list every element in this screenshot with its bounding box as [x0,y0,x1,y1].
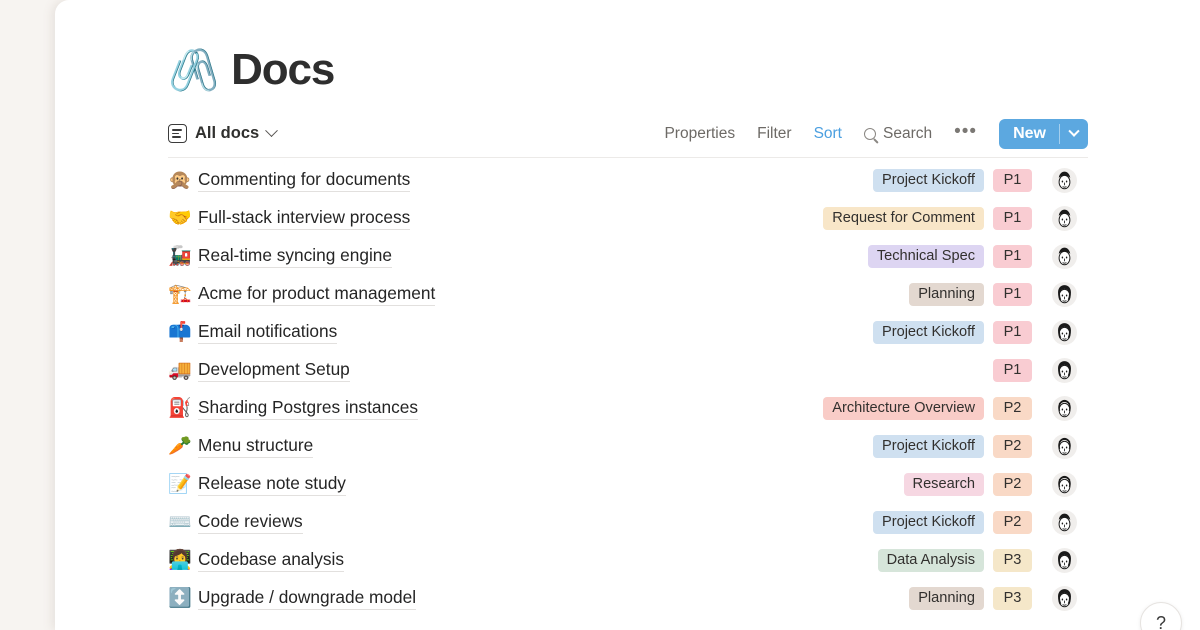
doc-row[interactable]: 🚚Development SetupP1 [168,351,1088,389]
doc-tag-cell: Architecture Overview [779,397,984,420]
doc-owner-cell [1041,168,1088,193]
avatar[interactable] [1052,282,1077,307]
doc-owner-cell [1041,358,1088,383]
doc-owner-cell [1041,510,1088,535]
page-content: 🖇️ Docs All docs Properties Filter Sort … [168,0,1088,617]
avatar[interactable] [1052,434,1077,459]
priority-badge[interactable]: P2 [993,435,1033,458]
avatar[interactable] [1052,168,1077,193]
avatar[interactable] [1052,244,1077,269]
avatar[interactable] [1052,396,1077,421]
doc-row[interactable]: ↕️Upgrade / downgrade modelPlanningP3 [168,579,1088,617]
avatar[interactable] [1052,548,1077,573]
doc-tag-cell: Planning [779,283,984,306]
priority-badge[interactable]: P1 [993,321,1033,344]
new-button[interactable]: New [999,119,1059,149]
doc-row[interactable]: 🏗️Acme for product managementPlanningP1 [168,275,1088,313]
new-button-group: New [999,119,1088,149]
toolbar-actions: Properties Filter Sort Search ••• New [664,119,1088,149]
doc-tag-badge[interactable]: Planning [909,283,984,306]
doc-tag-badge[interactable]: Project Kickoff [873,435,984,458]
priority-badge[interactable]: P1 [993,283,1033,306]
doc-priority-cell: P2 [984,435,1041,458]
help-button[interactable]: ? [1140,602,1182,630]
chevron-down-icon [1068,125,1079,136]
doc-priority-cell: P1 [984,207,1041,230]
doc-tag-badge[interactable]: Project Kickoff [873,321,984,344]
doc-title-link[interactable]: Code reviews [198,511,303,534]
doc-owner-cell [1041,586,1088,611]
doc-owner-cell [1041,548,1088,573]
doc-list: 🙊Commenting for documentsProject Kickoff… [168,161,1088,617]
doc-row[interactable]: ⛽Sharding Postgres instancesArchitecture… [168,389,1088,427]
list-view-icon [168,124,187,143]
page-panel: 🖇️ Docs All docs Properties Filter Sort … [55,0,1200,630]
doc-row[interactable]: 🥕Menu structureProject KickoffP2 [168,427,1088,465]
search-button[interactable]: Search [864,125,932,143]
doc-title-link[interactable]: Sharding Postgres instances [198,397,418,420]
doc-tag-cell: Planning [779,587,984,610]
priority-badge[interactable]: P1 [993,169,1033,192]
doc-priority-cell: P1 [984,359,1041,382]
memo-icon: 📝 [168,475,198,494]
doc-row[interactable]: 📝Release note studyResearchP2 [168,465,1088,503]
priority-badge[interactable]: P1 [993,245,1033,268]
doc-row[interactable]: 📫Email notificationsProject KickoffP1 [168,313,1088,351]
sort-button[interactable]: Sort [814,125,842,143]
avatar[interactable] [1052,586,1077,611]
doc-owner-cell [1041,472,1088,497]
construction-crane-icon: 🏗️ [168,285,198,304]
locomotive-icon: 🚂 [168,247,198,266]
doc-title-link[interactable]: Development Setup [198,359,350,382]
doc-title-link[interactable]: Email notifications [198,321,337,344]
priority-badge[interactable]: P2 [993,473,1033,496]
doc-row[interactable]: 🤝Full-stack interview processRequest for… [168,199,1088,237]
avatar[interactable] [1052,472,1077,497]
doc-priority-cell: P1 [984,283,1041,306]
doc-title-link[interactable]: Full-stack interview process [198,207,410,230]
keyboard-icon: ⌨️ [168,513,198,532]
priority-badge[interactable]: P3 [993,587,1033,610]
chevron-down-icon [265,124,278,137]
doc-priority-cell: P2 [984,473,1041,496]
app-root: 🖇️ Docs All docs Properties Filter Sort … [0,0,1200,630]
technologist-icon: 👩‍💻 [168,551,198,570]
handshake-icon: 🤝 [168,209,198,228]
doc-title-link[interactable]: Upgrade / downgrade model [198,587,416,610]
avatar[interactable] [1052,510,1077,535]
more-options-button[interactable]: ••• [954,127,977,137]
paperclip-icon: 🖇️ [168,50,219,91]
carrot-icon: 🥕 [168,437,198,456]
doc-row[interactable]: ⌨️Code reviewsProject KickoffP2 [168,503,1088,541]
doc-title-link[interactable]: Real-time syncing engine [198,245,392,268]
doc-tag-cell: Project Kickoff [779,169,984,192]
priority-badge[interactable]: P3 [993,549,1033,572]
doc-row[interactable]: 👩‍💻Codebase analysisData AnalysisP3 [168,541,1088,579]
doc-owner-cell [1041,434,1088,459]
doc-owner-cell [1041,206,1088,231]
avatar[interactable] [1052,320,1077,345]
doc-owner-cell [1041,396,1088,421]
toolbar: All docs Properties Filter Sort Search •… [168,110,1088,158]
doc-title-link[interactable]: Release note study [198,473,346,496]
doc-tag-cell: Project Kickoff [779,511,984,534]
properties-button[interactable]: Properties [664,125,735,143]
doc-priority-cell: P3 [984,587,1041,610]
doc-tag-cell: Project Kickoff [779,321,984,344]
doc-title-link[interactable]: Codebase analysis [198,549,344,572]
doc-priority-cell: P1 [984,321,1041,344]
doc-tag-cell: Data Analysis [779,549,984,572]
doc-tag-cell: Request for Comment [779,207,984,230]
priority-badge[interactable]: P1 [993,359,1033,382]
doc-owner-cell [1041,282,1088,307]
doc-tag-cell: Project Kickoff [779,435,984,458]
priority-badge[interactable]: P2 [993,511,1033,534]
doc-priority-cell: P1 [984,245,1041,268]
doc-owner-cell [1041,244,1088,269]
doc-title-link[interactable]: Acme for product management [198,283,435,306]
avatar[interactable] [1052,206,1077,231]
doc-priority-cell: P3 [984,549,1041,572]
doc-priority-cell: P1 [984,169,1041,192]
delivery-truck-icon: 🚚 [168,361,198,380]
doc-tag-badge[interactable]: Data Analysis [878,549,984,572]
doc-row[interactable]: 🙊Commenting for documentsProject Kickoff… [168,161,1088,199]
avatar[interactable] [1052,358,1077,383]
doc-tag-badge[interactable]: Technical Spec [868,245,984,268]
view-selector-label: All docs [195,124,259,143]
doc-tag-badge[interactable]: Research [904,473,984,496]
speak-no-evil-monkey-icon: 🙊 [168,171,198,190]
priority-badge[interactable]: P2 [993,397,1033,420]
doc-tag-badge[interactable]: Project Kickoff [873,511,984,534]
search-label: Search [883,125,932,143]
doc-tag-badge[interactable]: Project Kickoff [873,169,984,192]
doc-priority-cell: P2 [984,397,1041,420]
doc-tag-cell: Research [779,473,984,496]
page-title: Docs [231,45,334,95]
new-button-dropdown[interactable] [1060,119,1088,149]
fuel-pump-icon: ⛽ [168,399,198,418]
doc-owner-cell [1041,320,1088,345]
doc-priority-cell: P2 [984,511,1041,534]
filter-button[interactable]: Filter [757,125,791,143]
doc-title-link[interactable]: Menu structure [198,435,313,458]
view-selector[interactable]: All docs [168,124,276,143]
doc-tag-cell: Technical Spec [779,245,984,268]
search-icon [864,128,876,140]
up-down-arrow-icon: ↕️ [168,589,198,608]
doc-tag-badge[interactable]: Architecture Overview [823,397,984,420]
doc-tag-badge[interactable]: Planning [909,587,984,610]
page-header: 🖇️ Docs [168,40,1088,100]
mailbox-icon: 📫 [168,323,198,342]
priority-badge[interactable]: P1 [993,207,1033,230]
doc-title-link[interactable]: Commenting for documents [198,169,410,192]
doc-row[interactable]: 🚂Real-time syncing engineTechnical SpecP… [168,237,1088,275]
doc-tag-badge[interactable]: Request for Comment [823,207,984,230]
